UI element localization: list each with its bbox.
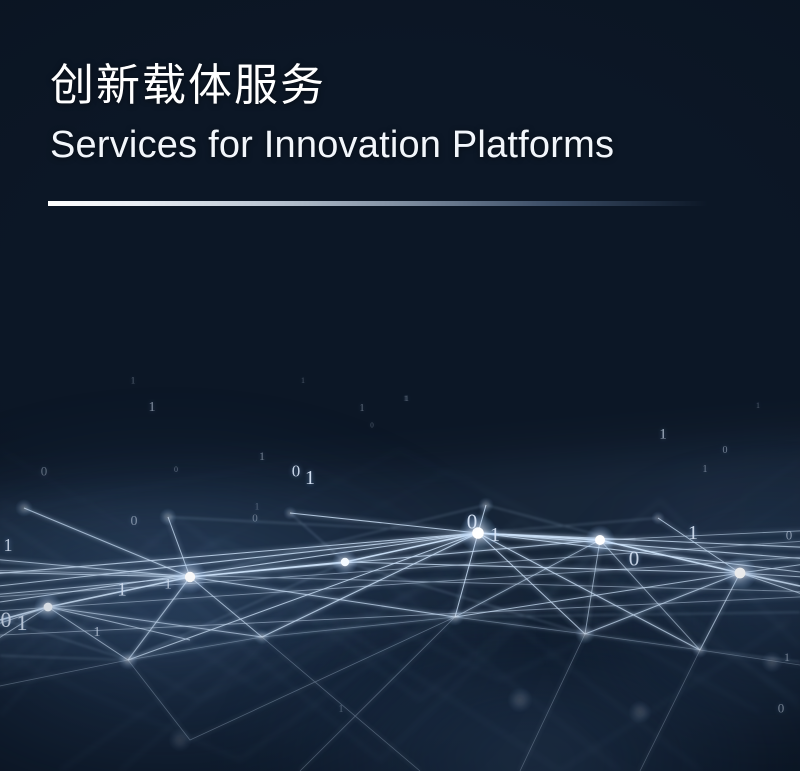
mesh-dim-nodes <box>15 497 783 752</box>
page-title-chinese: 创新载体服务 <box>50 62 614 110</box>
title-divider <box>48 201 708 206</box>
banner-heading: 创新载体服务 Services for Innovation Platforms <box>50 62 614 168</box>
page-subtitle-english: Services for Innovation Platforms <box>50 124 614 168</box>
innovation-platform-banner: 1111010011011010011101101010101111 创新载体服… <box>0 0 800 771</box>
